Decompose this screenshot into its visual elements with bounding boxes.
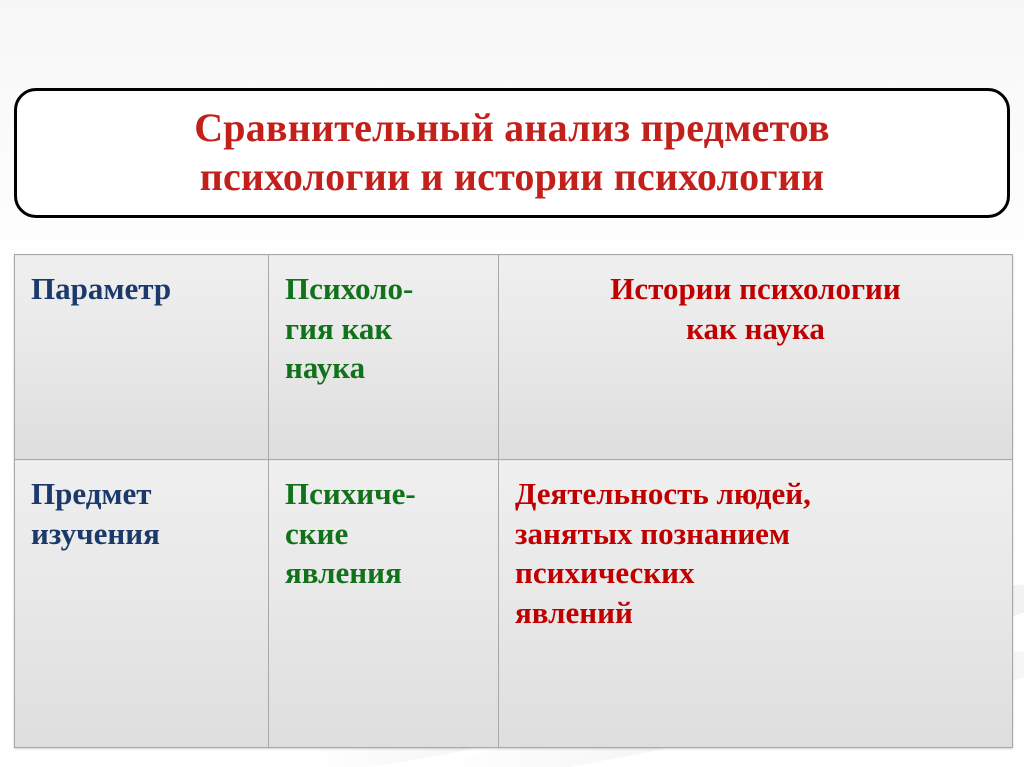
header-label-psychology: Психоло- гия как наука [285,269,482,388]
slide-title-box: Сравнительный анализ предметов психологи… [14,88,1010,218]
header-label-parameter: Параметр [31,269,252,309]
cell-psychology-subject: Психиче- ские явления [269,460,499,748]
table-header-row: Параметр Психоло- гия как наука Истории … [15,255,1013,460]
cell-text-parameter: Предмет изучения [31,474,252,553]
table-row: Предмет изучения Психиче- ские явления Д… [15,460,1013,748]
header-label-history: Истории психологии как наука [515,269,996,348]
comparison-table: Параметр Психоло- гия как наука Истории … [14,254,1013,748]
slide-title: Сравнительный анализ предметов психологи… [168,104,856,202]
cell-history-subject: Деятельность людей, занятых познанием пс… [499,460,1013,748]
cell-text-history: Деятельность людей, занятых познанием пс… [515,474,996,633]
header-cell-psychology: Психоло- гия как наука [269,255,499,460]
header-cell-parameter: Параметр [15,255,269,460]
header-cell-history: Истории психологии как наука [499,255,1013,460]
cell-text-psychology: Психиче- ские явления [285,474,482,593]
cell-parameter-subject: Предмет изучения [15,460,269,748]
